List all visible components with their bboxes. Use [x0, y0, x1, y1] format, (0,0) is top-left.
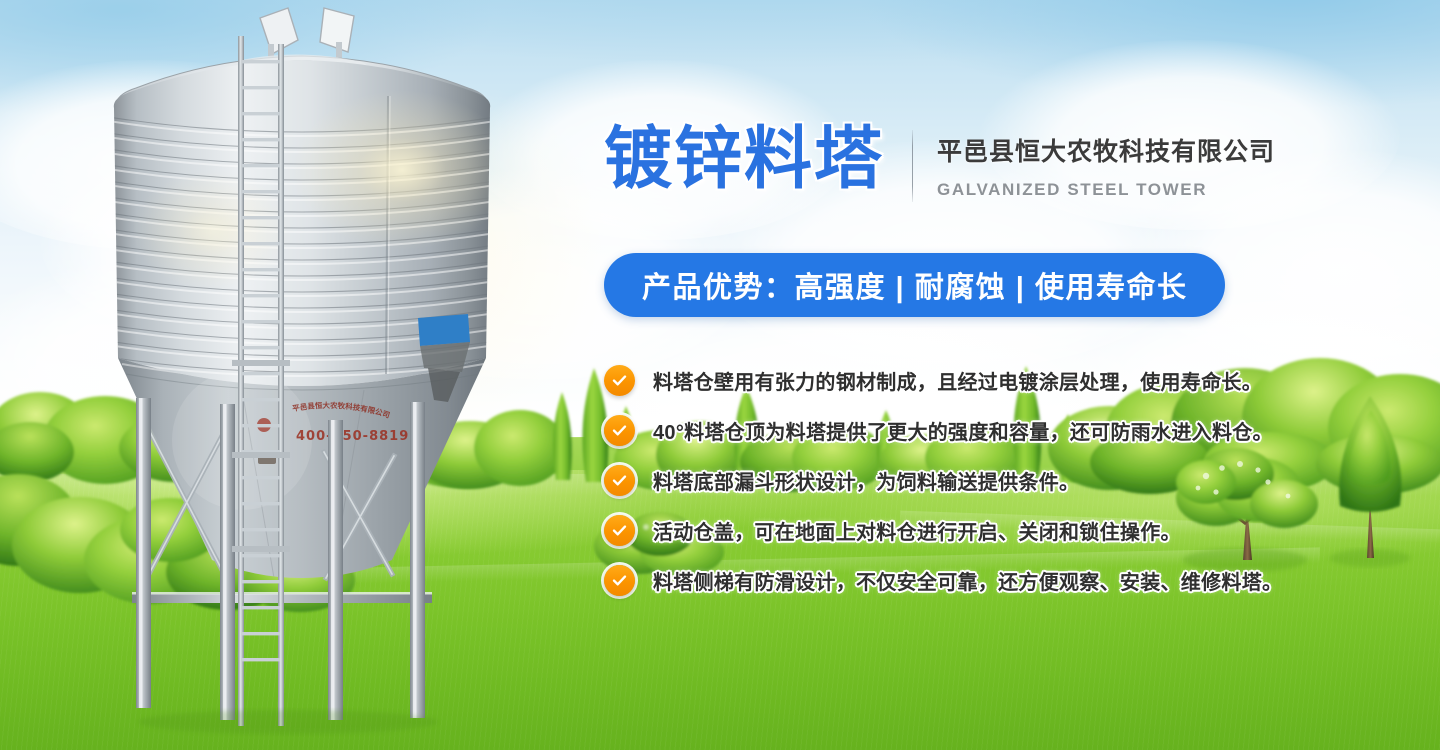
company-name-en: GALVANIZED STEEL TOWER	[937, 180, 1275, 200]
company-name: 平邑县恒大农牧科技有限公司	[937, 132, 1275, 168]
feature-text: 料塔底部漏斗形状设计，为饲料输送提供条件。	[653, 466, 1079, 495]
title-divider	[912, 130, 913, 202]
promo-banner: 平邑县恒大农牧科技有限公司 400-850-8819	[0, 0, 1440, 750]
feature-text: 活动仓盖，可在地面上对料仓进行开启、关闭和锁住操作。	[653, 516, 1181, 545]
feature-list: 料塔仓壁用有张力的钢材制成，且经过电镀涂层处理，使用寿命长。 40°料塔仓顶为料…	[604, 355, 1434, 605]
list-item: 料塔仓壁用有张力的钢材制成，且经过电镀涂层处理，使用寿命长。	[604, 355, 1434, 405]
silo-hopper-cone: 平邑县恒大农牧科技有限公司 400-850-8819	[118, 358, 486, 578]
check-icon	[604, 415, 635, 446]
feature-text: 料塔侧梯有防滑设计，不仅安全可靠，还方便观察、安装、维修料塔。	[653, 566, 1282, 595]
list-item: 活动仓盖，可在地面上对料仓进行开启、关闭和锁住操作。	[604, 505, 1434, 555]
check-icon	[604, 465, 635, 496]
banner-content: 镀锌料塔 平邑县恒大农牧科技有限公司 GALVANIZED STEEL TOWE…	[600, 0, 1440, 750]
check-icon	[604, 565, 635, 596]
check-icon	[604, 365, 635, 396]
list-item: 料塔底部漏斗形状设计，为饲料输送提供条件。	[604, 455, 1434, 505]
list-item: 40°料塔仓顶为料塔提供了更大的强度和容量，还可防雨水进入料仓。	[604, 405, 1434, 455]
title-row: 镀锌料塔 平邑县恒大农牧科技有限公司 GALVANIZED STEEL TOWE…	[604, 118, 1275, 202]
advantage-pill[interactable]: 产品优势：高强度 | 耐腐蚀 | 使用寿命长	[604, 253, 1225, 317]
feature-text: 40°料塔仓顶为料塔提供了更大的强度和容量，还可防雨水进入料仓。	[653, 416, 1273, 445]
svg-text:400-850-8819: 400-850-8819	[296, 429, 409, 444]
advantage-pill-label: 产品优势：高强度 | 耐腐蚀 | 使用寿命长	[642, 264, 1187, 306]
list-item: 料塔侧梯有防滑设计，不仅安全可靠，还方便观察、安装、维修料塔。	[604, 555, 1434, 605]
title-side-block: 平邑县恒大农牧科技有限公司 GALVANIZED STEEL TOWER	[937, 118, 1275, 200]
check-icon	[604, 515, 635, 546]
feature-text: 料塔仓壁用有张力的钢材制成，且经过电镀涂层处理，使用寿命长。	[653, 366, 1262, 395]
galvanized-silo-image: 平邑县恒大农牧科技有限公司 400-850-8819	[92, 0, 512, 750]
page-title: 镀锌料塔	[604, 118, 884, 200]
